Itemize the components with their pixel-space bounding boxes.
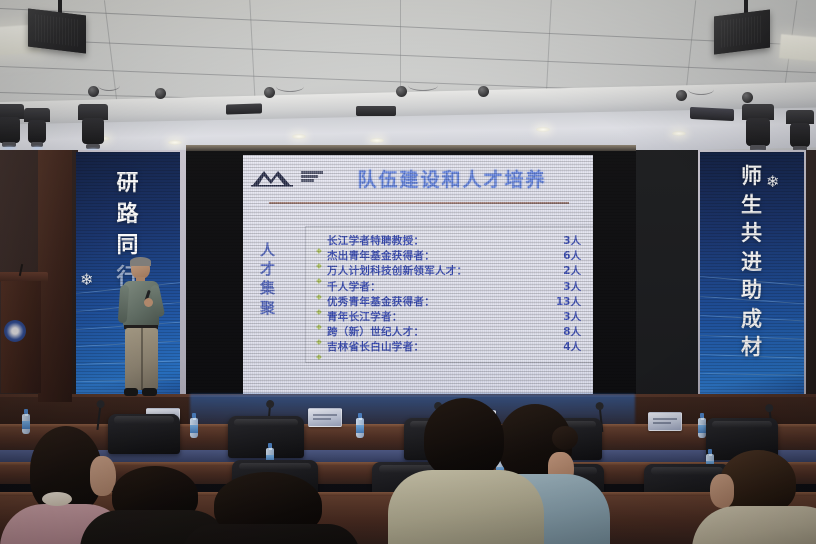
moving-head-light <box>742 104 774 152</box>
moving-head-light <box>24 108 50 148</box>
list-item-count: 13人 <box>539 294 586 309</box>
ceiling-projector <box>690 107 734 121</box>
list-item-count: 4人 <box>539 339 586 354</box>
logo-wordmark <box>301 171 323 183</box>
moving-head-light <box>78 104 108 150</box>
ceiling-downlight <box>370 138 384 143</box>
audience-member-3 <box>186 472 356 544</box>
list-item-count: 3人 <box>539 279 586 294</box>
moving-head-light <box>786 110 814 152</box>
audience-member-5 <box>400 398 530 544</box>
ceiling-downlight <box>672 131 686 136</box>
led-wall-top-trim <box>186 145 636 151</box>
list-item: 长江学者特聘教授： 3人 <box>314 233 586 248</box>
hanging-speaker <box>714 10 770 55</box>
slide-vertical-label: 人 才 集 聚 <box>257 241 279 318</box>
list-item: 万人计划科技创新领军人才： 2人 <box>314 263 586 278</box>
list-item: 优秀青年基金获得者： 13人 <box>314 294 586 309</box>
pan-tilt-camera <box>742 92 753 103</box>
banner-right-char: 成 <box>700 305 804 334</box>
ceiling-downlight <box>536 127 550 132</box>
banner-left-char: 路 <box>76 199 180 230</box>
audience-torso <box>388 470 544 544</box>
banner-right-char: 师 <box>700 162 804 191</box>
pan-tilt-camera <box>478 86 489 97</box>
ceiling-downlight <box>168 140 182 145</box>
list-item-count: 8人 <box>539 324 586 339</box>
presenter <box>118 258 166 400</box>
list-item: 青年长江学者： 3人 <box>314 309 586 324</box>
presenter-hair <box>130 257 151 266</box>
list-item-label: 吉林省长白山学者： <box>327 339 539 354</box>
audience-member-6 <box>706 450 816 544</box>
camera-cable <box>408 80 438 91</box>
banner-left-char: 研 <box>76 168 180 199</box>
banner-right-char: 材 <box>700 333 804 362</box>
slide-title-divider <box>269 202 569 204</box>
list-item-label: 万人计划科技创新领军人才： <box>327 263 539 278</box>
list-item-count: 3人 <box>539 233 586 248</box>
moving-head-light <box>0 104 24 148</box>
presentation-slide: 队伍建设和人才培养 人 才 集 聚 长江学者特聘教授： 3人 杰出青 <box>243 155 593 395</box>
camera-cable <box>688 84 714 95</box>
banner-right-text: 师 生 共 进 助 成 材 <box>700 162 804 362</box>
slide-bullet-list: 长江学者特聘教授： 3人 杰出青年基金获得者： 6人 万人计划科技创新领军人才：… <box>314 233 586 355</box>
banner-right-char: 生 <box>700 191 804 220</box>
list-item-label: 青年长江学者： <box>327 309 539 324</box>
list-item-label: 长江学者特聘教授： <box>327 233 539 248</box>
banner-right-char: 助 <box>700 276 804 305</box>
pan-tilt-camera <box>396 86 407 97</box>
list-item-count: 2人 <box>539 263 586 278</box>
slide-title: 队伍建设和人才培养 <box>327 165 577 192</box>
desk-nameplate <box>308 408 342 427</box>
list-item-count: 6人 <box>539 248 586 263</box>
list-item: 千人学者： 3人 <box>314 279 586 294</box>
wall-side-right <box>806 150 816 402</box>
vertical-label-char: 才 <box>257 260 279 279</box>
list-item: 吉林省长白山学者： 4人 <box>314 339 586 354</box>
water-bottle <box>190 412 198 438</box>
university-seal-icon <box>4 320 26 342</box>
vertical-label-char: 聚 <box>257 299 279 318</box>
audience-hair <box>424 398 504 478</box>
ceiling-downlight <box>292 134 306 139</box>
camera-cable <box>276 81 304 92</box>
banner-right-char: 共 <box>700 219 804 248</box>
list-item-label: 跨（新）世纪人才： <box>327 324 539 339</box>
vertical-label-char: 人 <box>257 241 279 260</box>
list-item: 跨（新）世纪人才： 8人 <box>314 324 586 339</box>
conference-hall-photo: ❄ 研 路 同 行 ❄ 师 生 共 进 助 成 材 <box>0 0 816 544</box>
water-bottle <box>698 412 706 438</box>
audience-hair-tie <box>42 492 72 506</box>
slide-content-box: 长江学者特聘教授： 3人 杰出青年基金获得者： 6人 万人计划科技创新领军人才：… <box>305 226 593 363</box>
lectern <box>0 272 48 400</box>
pan-tilt-camera <box>155 88 166 99</box>
vertical-label-char: 集 <box>257 279 279 298</box>
audience-face <box>710 474 734 508</box>
list-item-label: 优秀青年基金获得者： <box>327 294 539 309</box>
audience-hair-bun <box>552 426 578 450</box>
pan-tilt-camera <box>264 87 275 98</box>
audience-torso <box>692 506 816 544</box>
water-bottle <box>356 412 364 438</box>
camera-cable <box>98 80 120 91</box>
slide-logo <box>251 167 323 191</box>
university-logo-icon <box>251 169 301 187</box>
pan-tilt-camera <box>676 90 687 101</box>
ceiling-projector <box>226 103 262 114</box>
ceiling-projector <box>356 106 396 116</box>
list-item-label: 杰出青年基金获得者： <box>327 248 539 263</box>
pan-tilt-camera <box>88 86 99 97</box>
list-item-label: 千人学者： <box>327 279 539 294</box>
ceiling-light-panel <box>779 34 816 62</box>
list-item: 杰出青年基金获得者： 6人 <box>314 248 586 263</box>
hanging-speaker <box>28 8 86 53</box>
led-video-wall: 队伍建设和人才培养 人 才 集 聚 长江学者特聘教授： 3人 杰出青 <box>186 151 636 402</box>
audience-torso <box>182 524 360 544</box>
list-item-count: 3人 <box>539 309 586 324</box>
banner-right: ❄ 师 生 共 进 助 成 材 <box>700 152 804 402</box>
banner-right-char: 进 <box>700 248 804 277</box>
desk-nameplate <box>648 412 682 431</box>
ceiling <box>0 0 816 152</box>
wall-dark-panel-right <box>634 150 698 403</box>
